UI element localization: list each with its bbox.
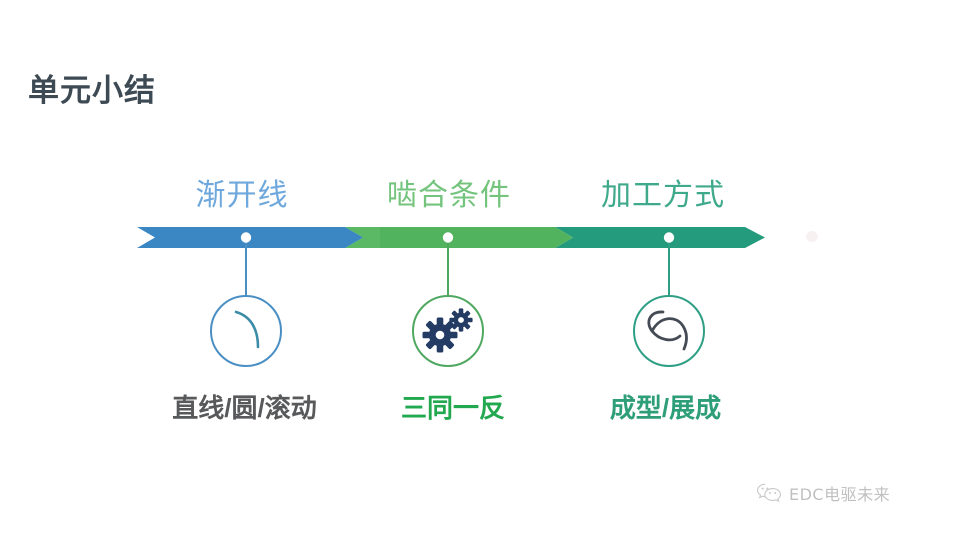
involute-curve-icon <box>236 312 258 347</box>
stage-1-icon-circle <box>211 296 281 366</box>
stage-heading-3: 加工方式 <box>578 178 748 214</box>
stage-label-1: 直线/圆/滚动 <box>132 393 357 424</box>
slide-canvas: 单元小结 <box>0 0 960 540</box>
stage-label-2: 三同一反 <box>378 393 528 424</box>
stage-2-icon-circle <box>413 296 483 366</box>
stage-1-marker-dot <box>241 232 251 242</box>
watermark: EDC电驱未来 <box>756 481 890 505</box>
band-segment-2 <box>345 227 573 248</box>
band-segment-1 <box>137 227 363 248</box>
stage-3-marker-dot <box>664 232 674 242</box>
gears-icon <box>423 308 473 352</box>
s-curve-icon <box>649 312 687 349</box>
stage-heading-1: 渐开线 <box>162 178 322 214</box>
stage-heading-2: 啮合条件 <box>364 178 534 214</box>
page-title: 单元小结 <box>28 74 156 108</box>
background-artifact <box>806 231 818 242</box>
band-segment-3 <box>555 227 765 248</box>
stage-2-marker-dot <box>443 232 453 242</box>
watermark-text: EDC电驱未来 <box>789 481 890 505</box>
stage-label-3: 成型/展成 <box>578 393 753 424</box>
wechat-icon <box>756 482 782 504</box>
stage-3-icon-circle <box>634 296 704 366</box>
